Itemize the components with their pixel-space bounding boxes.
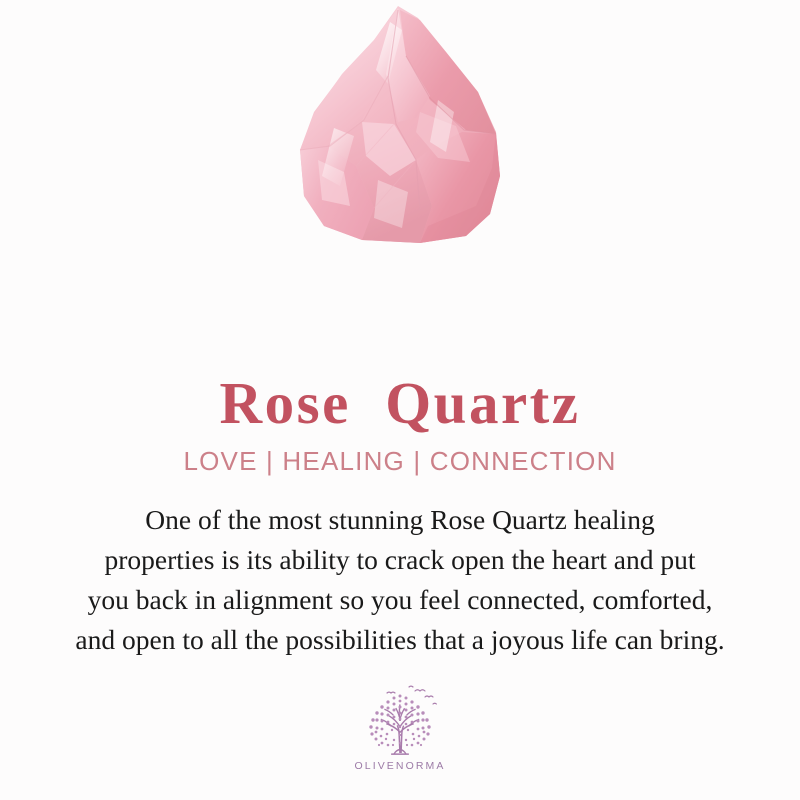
brand-wordmark: OLIVENORMA (354, 760, 445, 772)
description-text: One of the most stunning Rose Quartz hea… (30, 500, 770, 660)
description-line: you back in alignment so you feel connec… (30, 580, 770, 620)
description-line: One of the most stunning Rose Quartz hea… (30, 500, 770, 540)
brand-logo: OLIVENORMA (0, 683, 800, 772)
description-line: properties is its ability to crack open … (30, 540, 770, 580)
description-line: and open to all the possibilities that a… (30, 620, 770, 660)
tree-of-life-icon (357, 683, 443, 759)
rose-quartz-crystal (270, 0, 530, 250)
keyword-subtitle: LOVE | HEALING | CONNECTION (0, 446, 800, 477)
product-card: Rose Quartz LOVE | HEALING | CONNECTION … (0, 0, 800, 800)
hero-image-container (0, 0, 800, 300)
page-title: Rose Quartz (0, 373, 800, 435)
